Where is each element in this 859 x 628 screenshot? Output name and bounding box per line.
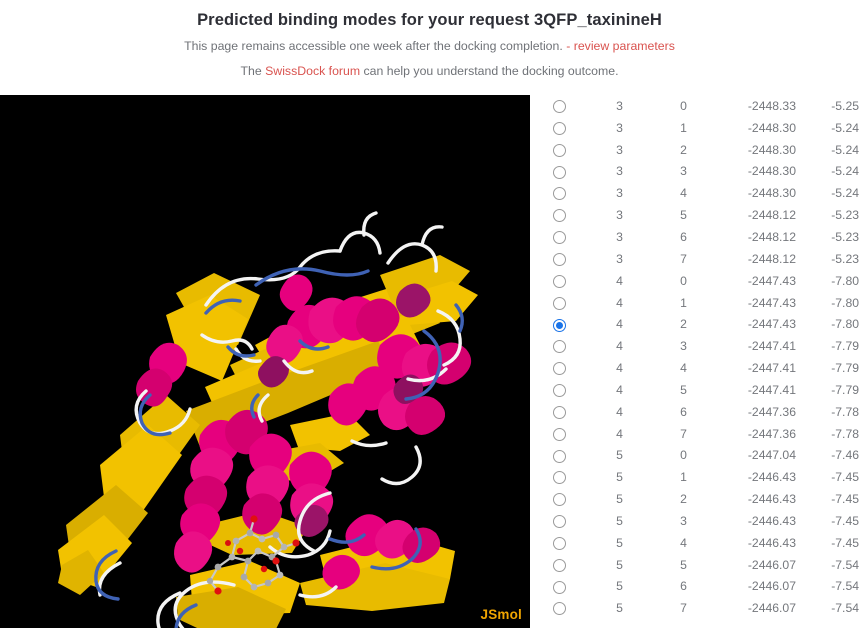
rank-value: 2 [651,313,716,335]
protein-structure-render[interactable] [0,95,530,628]
rank-value: 6 [651,401,716,423]
cluster-value: 5 [588,510,651,532]
fullfitness-value: -2446.43 [716,532,796,554]
mode-radio-button[interactable] [553,319,566,332]
cluster-value: 4 [588,401,651,423]
mode-select-cell[interactable] [530,292,588,314]
review-parameters-link[interactable]: review parameters [574,39,675,53]
cluster-value: 4 [588,357,651,379]
deltag-value: -7.79 [796,379,859,401]
binding-mode-row[interactable]: 35-2448.12-5.23 [530,204,859,226]
rank-value: 6 [651,576,716,598]
rank-value: 5 [651,554,716,576]
fullfitness-value: -2447.04 [716,445,796,467]
mode-select-cell[interactable] [530,182,588,204]
fullfitness-value: -2448.30 [716,139,796,161]
binding-mode-row[interactable]: 50-2447.04-7.46 [530,445,859,467]
binding-mode-row[interactable]: 37-2448.12-5.23 [530,248,859,270]
mode-select-cell[interactable] [530,248,588,270]
mode-radio-button[interactable] [553,406,566,419]
rank-value: 5 [651,204,716,226]
binding-mode-row[interactable]: 44-2447.41-7.79 [530,357,859,379]
deltag-value: -7.45 [796,510,859,532]
mode-radio-button[interactable] [553,297,566,310]
mode-radio-button[interactable] [553,275,566,288]
deltag-value: -5.25 [796,95,859,117]
rank-value: 4 [651,532,716,554]
mode-radio-button[interactable] [553,122,566,135]
rank-value: 0 [651,270,716,292]
rank-value: 5 [651,379,716,401]
deltag-value: -7.54 [796,597,859,619]
cluster-value: 5 [588,554,651,576]
cluster-value: 3 [588,204,651,226]
mode-radio-button[interactable] [553,428,566,441]
fullfitness-value: -2447.43 [716,313,796,335]
jsmol-viewer[interactable]: JSmol [0,95,530,628]
fullfitness-value: -2447.43 [716,270,796,292]
results-page: Predicted binding modes for your request… [0,0,859,628]
cluster-value: 4 [588,379,651,401]
binding-mode-row[interactable]: 54-2446.43-7.45 [530,532,859,554]
binding-mode-row[interactable]: 46-2447.36-7.78 [530,401,859,423]
cluster-value: 5 [588,597,651,619]
binding-mode-row[interactable]: 33-2448.30-5.24 [530,161,859,183]
mode-radio-button[interactable] [553,493,566,506]
rank-value: 3 [651,335,716,357]
rank-value: 2 [651,139,716,161]
deltag-value: -5.24 [796,117,859,139]
cluster-value: 3 [588,226,651,248]
binding-modes-panel[interactable]: 30-2448.33-5.2531-2448.30-5.2432-2448.30… [530,95,859,628]
mode-select-cell[interactable] [530,139,588,161]
fullfitness-value: -2448.12 [716,204,796,226]
cluster-value: 4 [588,270,651,292]
cluster-value: 5 [588,445,651,467]
deltag-value: -7.46 [796,445,859,467]
mode-select-cell[interactable] [530,401,588,423]
cluster-value: 4 [588,292,651,314]
rank-value: 6 [651,226,716,248]
mode-select-cell[interactable] [530,466,588,488]
fullfitness-value: -2447.41 [716,357,796,379]
mode-select-cell[interactable] [530,270,588,292]
cluster-value: 5 [588,488,651,510]
mode-radio-button[interactable] [553,187,566,200]
binding-mode-row[interactable]: 45-2447.41-7.79 [530,379,859,401]
page-header: Predicted binding modes for your request… [0,0,859,95]
mode-radio-button[interactable] [553,471,566,484]
mode-select-cell[interactable] [530,161,588,183]
mode-radio-button[interactable] [553,100,566,113]
fullfitness-value: -2447.41 [716,379,796,401]
mode-select-cell[interactable] [530,445,588,467]
binding-mode-row[interactable]: 32-2448.30-5.24 [530,139,859,161]
binding-mode-row[interactable]: 53-2446.43-7.45 [530,510,859,532]
mode-select-cell[interactable] [530,532,588,554]
rank-value: 2 [651,488,716,510]
fullfitness-value: -2448.30 [716,161,796,183]
cluster-value: 3 [588,182,651,204]
deltag-value: -5.24 [796,139,859,161]
binding-mode-row[interactable]: 41-2447.43-7.80 [530,292,859,314]
fullfitness-value: -2448.30 [716,182,796,204]
deltag-value: -5.23 [796,226,859,248]
mode-select-cell[interactable] [530,95,588,117]
cluster-value: 3 [588,95,651,117]
fullfitness-value: -2446.07 [716,576,796,598]
cluster-value: 4 [588,335,651,357]
fullfitness-value: -2447.43 [716,292,796,314]
rank-value: 0 [651,95,716,117]
mode-select-cell[interactable] [530,117,588,139]
fullfitness-value: -2447.36 [716,423,796,445]
deltag-value: -7.79 [796,335,859,357]
binding-mode-row[interactable]: 42-2447.43-7.80 [530,313,859,335]
mode-select-cell[interactable] [530,357,588,379]
cluster-value: 3 [588,117,651,139]
fullfitness-value: -2446.07 [716,597,796,619]
binding-mode-row[interactable]: 56-2446.07-7.54 [530,576,859,598]
binding-mode-row[interactable]: 30-2448.33-5.25 [530,95,859,117]
fullfitness-value: -2446.43 [716,488,796,510]
deltag-value: -7.80 [796,270,859,292]
deltag-value: -7.54 [796,576,859,598]
cluster-value: 3 [588,248,651,270]
rank-value: 4 [651,182,716,204]
binding-mode-row[interactable]: 51-2446.43-7.45 [530,466,859,488]
mode-radio-button[interactable] [553,602,566,615]
page-title: Predicted binding modes for your request… [0,0,859,30]
deltag-value: -7.45 [796,532,859,554]
rank-value: 3 [651,161,716,183]
mode-select-cell[interactable] [530,335,588,357]
rank-value: 1 [651,466,716,488]
fullfitness-value: -2446.43 [716,510,796,532]
jsmol-watermark: JSmol [480,607,522,622]
swissdock-forum-link[interactable]: SwissDock forum [265,64,360,78]
deltag-value: -7.78 [796,423,859,445]
mode-select-cell[interactable] [530,313,588,335]
deltag-value: -7.45 [796,466,859,488]
rank-value: 1 [651,117,716,139]
mode-select-cell[interactable] [530,510,588,532]
deltag-value: -7.80 [796,313,859,335]
mode-select-cell[interactable] [530,597,588,619]
cluster-value: 3 [588,161,651,183]
rank-value: 1 [651,292,716,314]
fullfitness-value: -2448.12 [716,226,796,248]
deltag-value: -7.78 [796,401,859,423]
mode-radio-button[interactable] [553,340,566,353]
deltag-value: -7.80 [796,292,859,314]
mode-select-cell[interactable] [530,204,588,226]
cluster-value: 5 [588,576,651,598]
fullfitness-value: -2448.33 [716,95,796,117]
mode-radio-button[interactable] [553,231,566,244]
mode-radio-button[interactable] [553,166,566,179]
deltag-value: -7.79 [796,357,859,379]
notice-dash: - [566,39,570,53]
binding-mode-row[interactable]: 34-2448.30-5.24 [530,182,859,204]
rank-value: 7 [651,248,716,270]
binding-mode-row[interactable]: 31-2448.30-5.24 [530,117,859,139]
binding-modes-body: 30-2448.33-5.2531-2448.30-5.2432-2448.30… [530,95,859,619]
binding-mode-row[interactable]: 40-2447.43-7.80 [530,270,859,292]
fullfitness-value: -2447.36 [716,401,796,423]
binding-mode-row[interactable]: 43-2447.41-7.79 [530,335,859,357]
rank-value: 0 [651,445,716,467]
forum-notice: The SwissDock forum can help you underst… [0,54,859,79]
cluster-value: 5 [588,532,651,554]
fullfitness-value: -2446.07 [716,554,796,576]
binding-mode-row[interactable]: 36-2448.12-5.23 [530,226,859,248]
deltag-value: -5.24 [796,182,859,204]
mode-radio-button[interactable] [553,581,566,594]
rank-value: 7 [651,597,716,619]
binding-mode-row[interactable]: 55-2446.07-7.54 [530,554,859,576]
mode-radio-button[interactable] [553,537,566,550]
deltag-value: -5.24 [796,161,859,183]
mode-radio-button[interactable] [553,384,566,397]
mode-select-cell[interactable] [530,576,588,598]
binding-mode-row[interactable]: 52-2446.43-7.45 [530,488,859,510]
deltag-value: -7.45 [796,488,859,510]
deltag-value: -7.54 [796,554,859,576]
cluster-value: 5 [588,466,651,488]
cluster-value: 3 [588,139,651,161]
mode-radio-button[interactable] [553,253,566,266]
fullfitness-value: -2448.12 [716,248,796,270]
mode-radio-button[interactable] [553,144,566,157]
mode-radio-button[interactable] [553,209,566,222]
deltag-value: -5.23 [796,248,859,270]
mode-select-cell[interactable] [530,423,588,445]
cluster-value: 4 [588,423,651,445]
deltag-value: -5.23 [796,204,859,226]
mode-radio-button[interactable] [553,450,566,463]
accessibility-notice-text: This page remains accessible one week af… [184,39,563,53]
mode-select-cell[interactable] [530,226,588,248]
mode-radio-button[interactable] [553,362,566,375]
mode-select-cell[interactable] [530,554,588,576]
forum-notice-prefix: The [240,64,261,78]
mode-select-cell[interactable] [530,379,588,401]
accessibility-notice: This page remains accessible one week af… [0,30,859,54]
rank-value: 4 [651,357,716,379]
mode-radio-button[interactable] [553,515,566,528]
rank-value: 3 [651,510,716,532]
rank-value: 7 [651,423,716,445]
binding-mode-row[interactable]: 47-2447.36-7.78 [530,423,859,445]
binding-modes-table: 30-2448.33-5.2531-2448.30-5.2432-2448.30… [530,95,859,619]
fullfitness-value: -2448.30 [716,117,796,139]
mode-radio-button[interactable] [553,559,566,572]
cluster-value: 4 [588,313,651,335]
fullfitness-value: -2447.41 [716,335,796,357]
forum-notice-suffix: can help you understand the docking outc… [364,64,619,78]
binding-mode-row[interactable]: 57-2446.07-7.54 [530,597,859,619]
fullfitness-value: -2446.43 [716,466,796,488]
mode-select-cell[interactable] [530,488,588,510]
